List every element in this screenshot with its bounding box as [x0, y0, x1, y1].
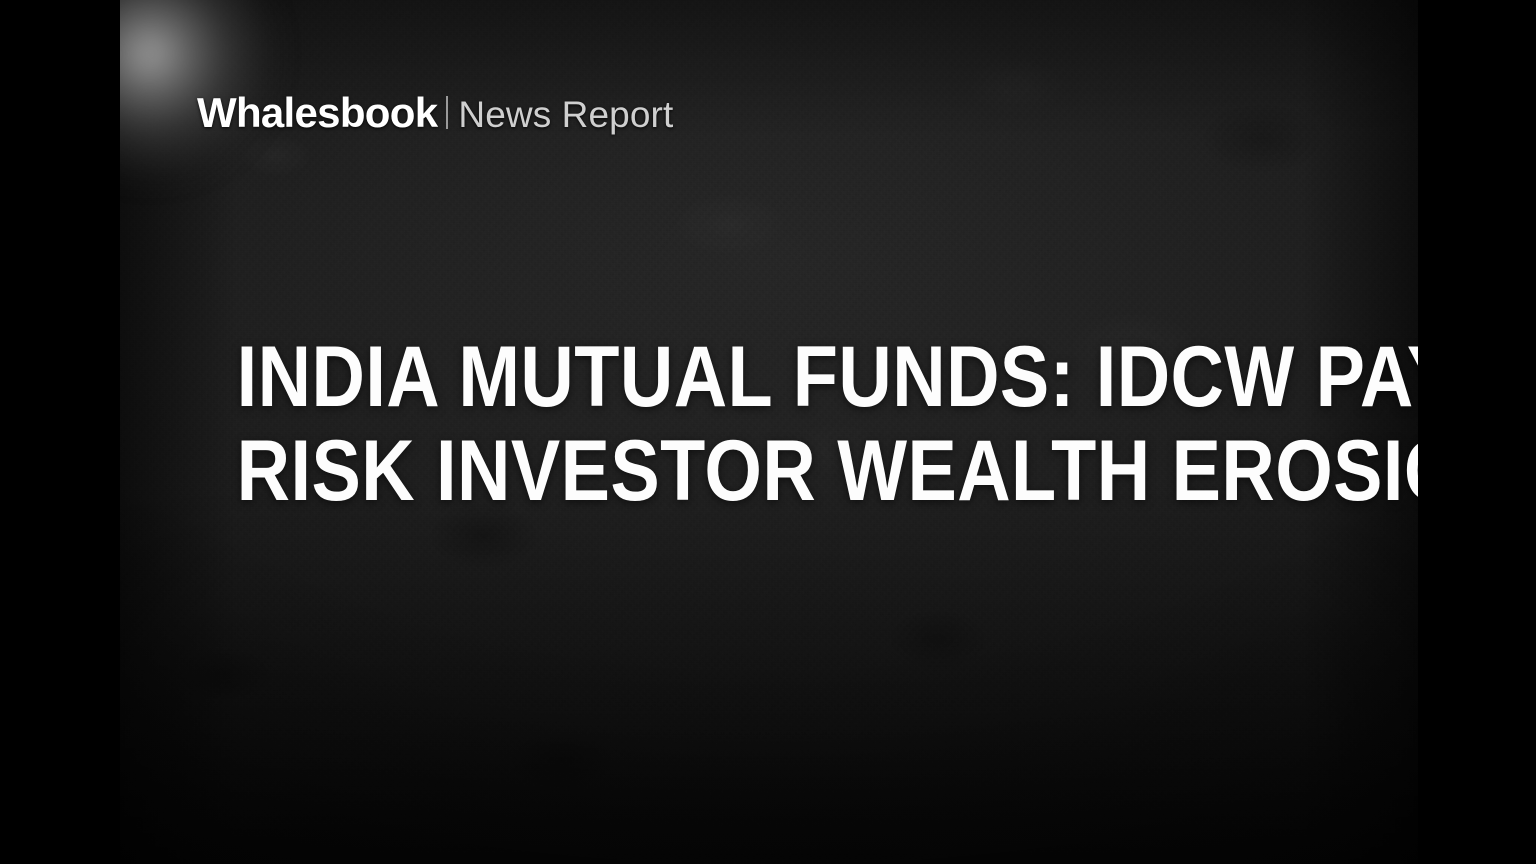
- news-report-poster: Whalesbook News Report INDIA MUTUAL FUND…: [0, 0, 1536, 864]
- headline-line-2: RISK INVESTOR WEALTH EROSION: [237, 424, 1302, 518]
- brand-lockup: Whalesbook News Report: [197, 92, 673, 134]
- letterbox-bar-right: [1418, 0, 1536, 864]
- brand-divider-icon: [446, 96, 448, 129]
- letterbox-bar-left: [0, 0, 120, 864]
- headline: INDIA MUTUAL FUNDS: IDCW PAYOUTS RISK IN…: [120, 330, 1418, 518]
- brand-tagline: News Report: [458, 96, 673, 133]
- poster-background: Whalesbook News Report INDIA MUTUAL FUND…: [120, 0, 1418, 864]
- headline-line-1: INDIA MUTUAL FUNDS: IDCW PAYOUTS: [237, 330, 1302, 424]
- brand-name: Whalesbook: [197, 92, 437, 134]
